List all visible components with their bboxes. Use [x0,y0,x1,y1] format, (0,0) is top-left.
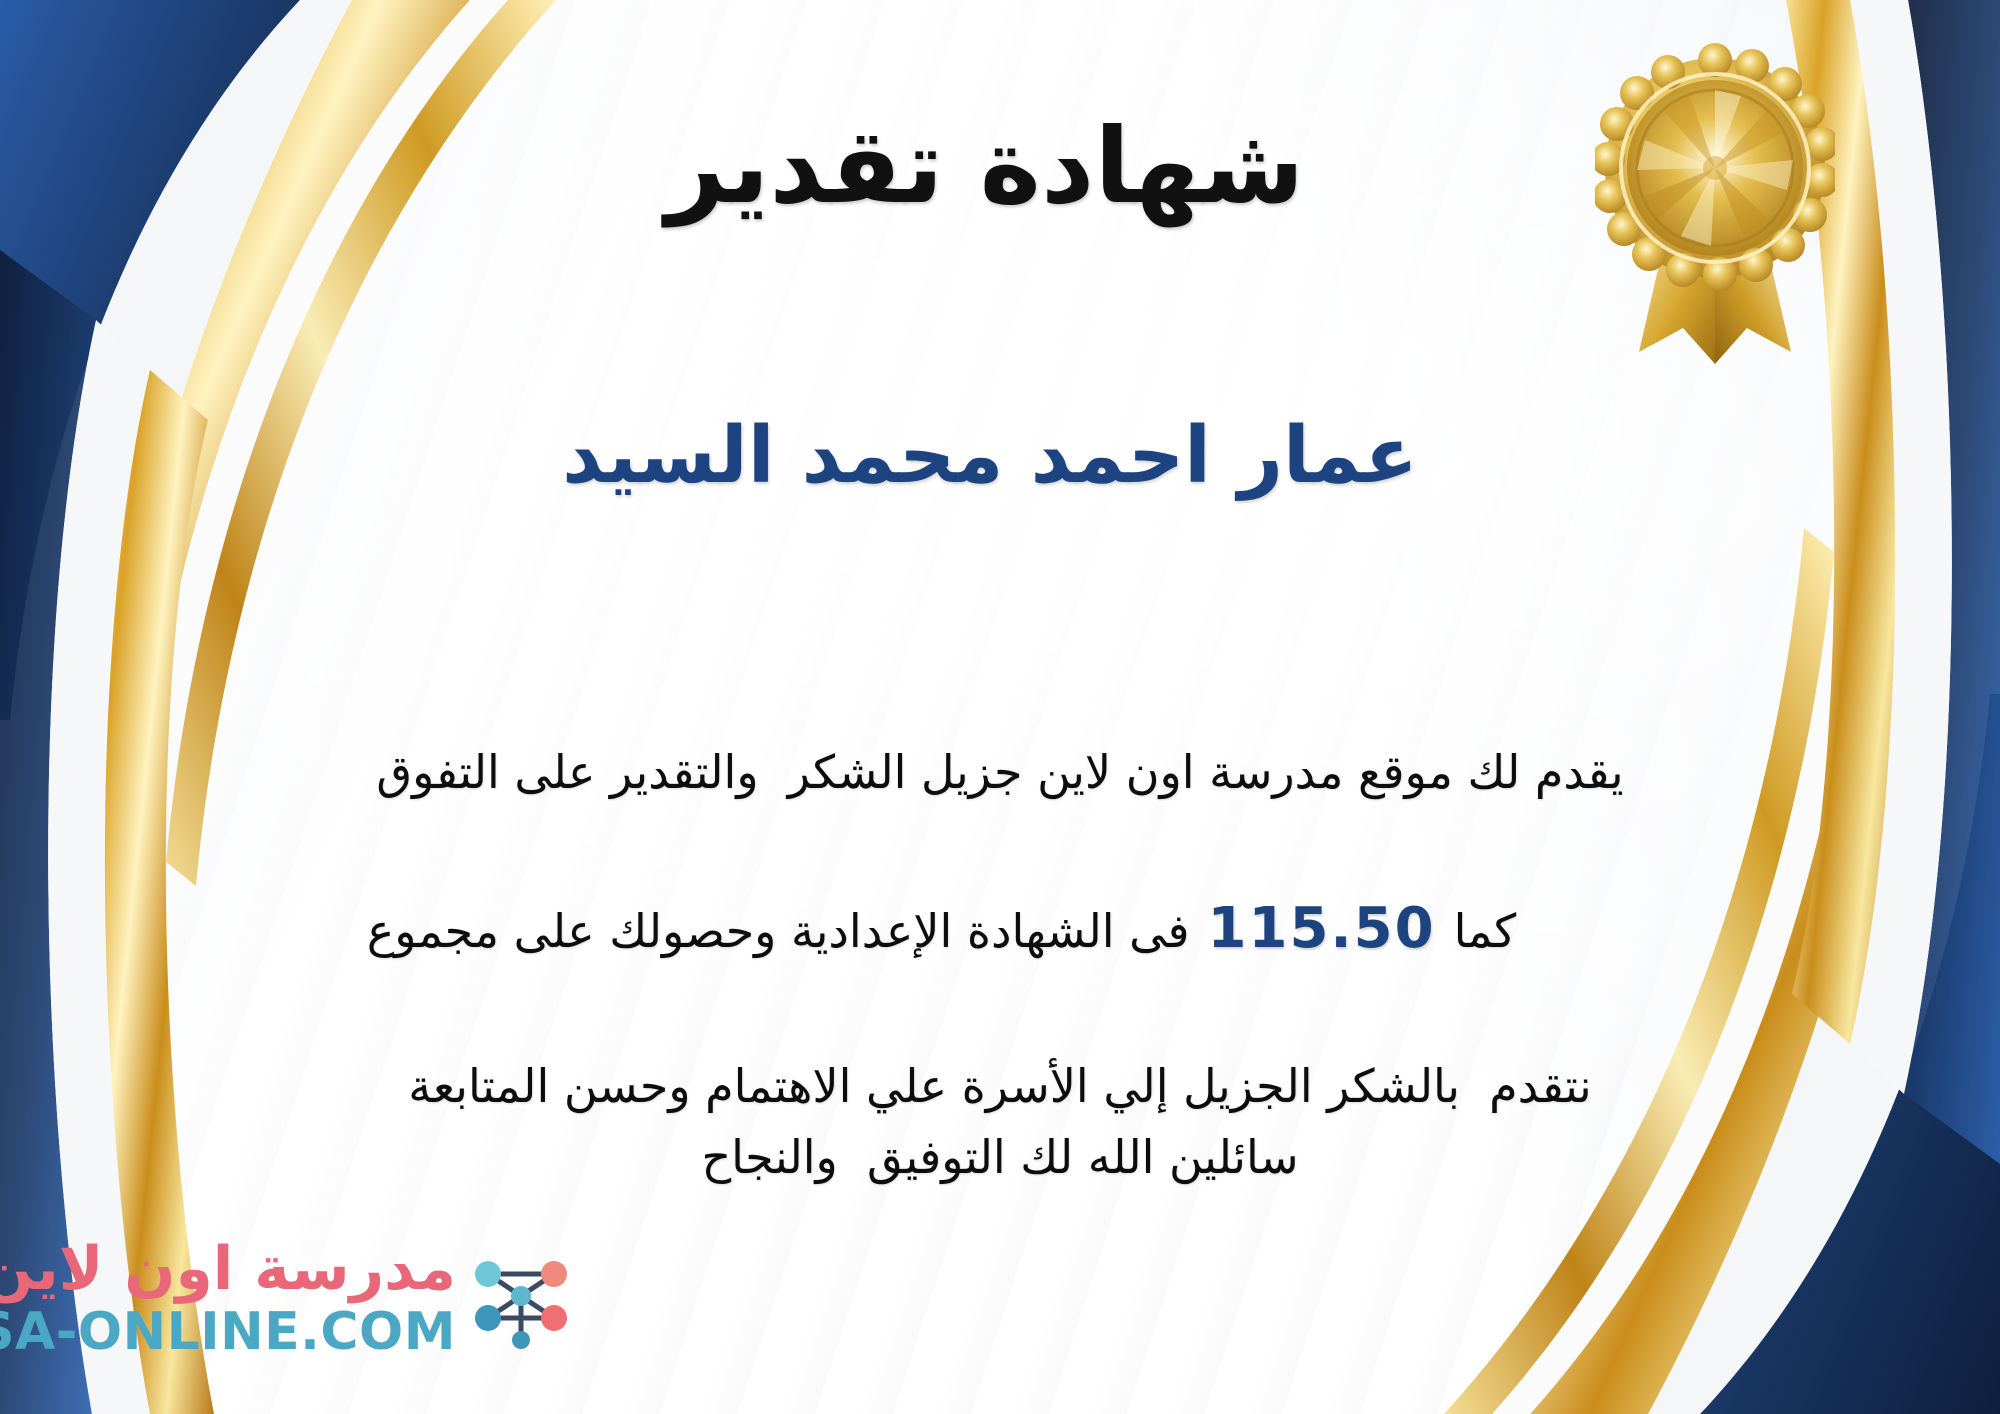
certificate-body-text: يقدم لك موقع مدرسة اون لاين جزيل الشكر و… [70,735,1930,1124]
closing-statement: سائلين الله لك التوفيق والنجاح [0,1130,2000,1184]
body-line-2: كما115.50فى الشهادة الإعدادية وحصولك على… [70,810,1930,1050]
recipient-name: عمار احمد محمد السيد [0,410,2000,504]
body-line-2-suffix: فى الشهادة الإعدادية وحصولك على مجموع [367,904,1190,958]
body-line-2-prefix: كما [1454,904,1517,958]
body-line-3: نتقدم بالشكر الجزيل إلي الأسرة علي الاهت… [70,1049,1930,1124]
total-score-value: 115.50 [1190,884,1454,975]
body-line-1: يقدم لك موقع مدرسة اون لاين جزيل الشكر و… [70,735,1930,810]
certificate-document: شهادة تقدير عمار احمد محمد السيد يقدم لك… [0,0,2000,1414]
certificate-title: شهادة تقدير [0,108,2000,224]
